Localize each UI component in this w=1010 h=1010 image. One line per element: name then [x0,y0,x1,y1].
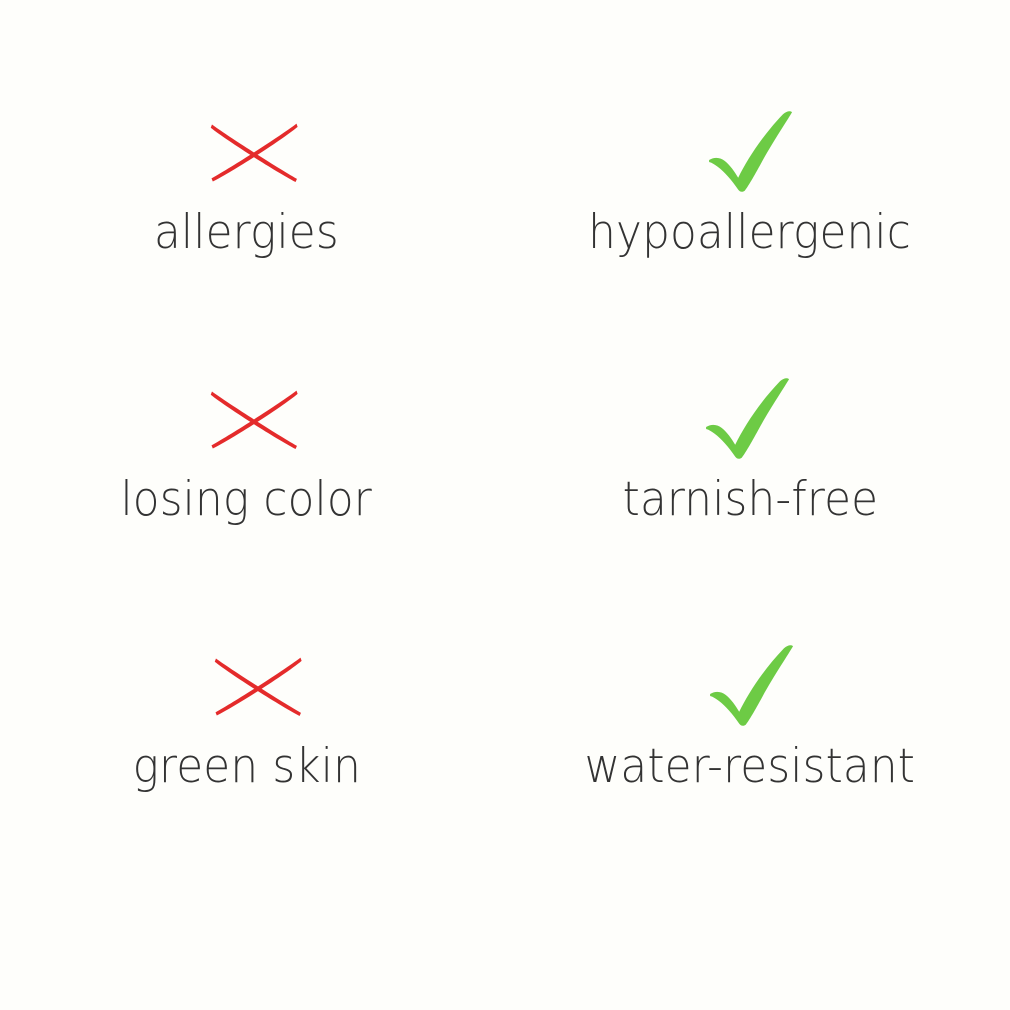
feature-label: water-resistant [585,742,916,792]
comparison-cell-negative: green skin [0,642,505,792]
check-icon [693,642,813,728]
cross-icon [194,108,314,194]
cross-icon [198,642,318,728]
comparison-cell-negative: losing color [0,375,505,525]
feature-label: losing color [121,475,373,525]
cross-icon [194,375,314,461]
check-icon [689,375,809,461]
comparison-cell-positive: tarnish-free [505,375,1010,525]
check-icon [692,108,812,194]
comparison-cell-negative: allergies [0,108,505,258]
feature-label: hypoallergenic [589,208,912,258]
feature-label: allergies [154,208,339,258]
comparison-board: allergies hypoallergenic losing color [0,0,1010,1010]
comparison-cell-positive: water-resistant [505,642,1010,792]
comparison-row: allergies hypoallergenic [0,108,1010,375]
feature-label: tarnish-free [622,475,878,525]
feature-label: green skin [132,742,360,792]
comparison-cell-positive: hypoallergenic [505,108,1010,258]
comparison-row: green skin water-resistant [0,642,1010,909]
comparison-row: losing color tarnish-free [0,375,1010,642]
